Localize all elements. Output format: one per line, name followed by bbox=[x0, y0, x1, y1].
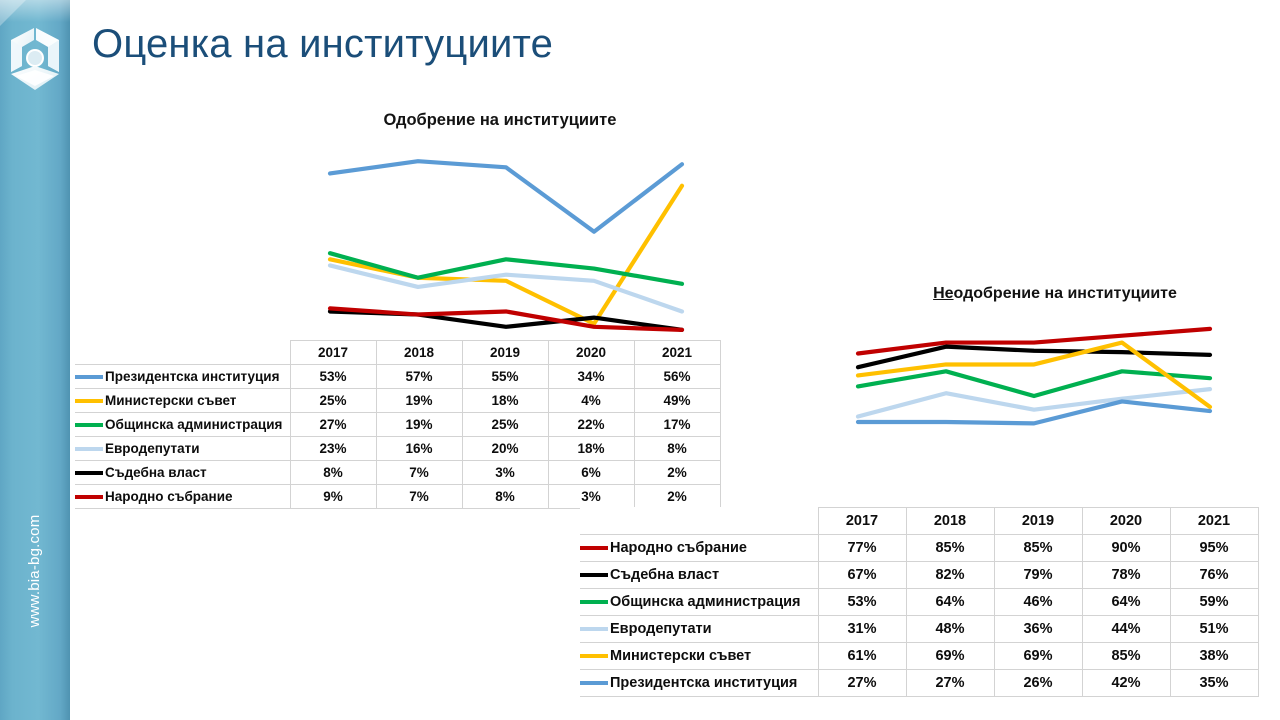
value-cell: 69% bbox=[994, 643, 1082, 670]
table-header-row: 2017 2018 2019 2020 2021 bbox=[75, 341, 720, 365]
legend-swatch-icon bbox=[75, 471, 103, 475]
series-name: Съдебна власт bbox=[105, 461, 207, 484]
legend-swatch-icon bbox=[75, 399, 103, 403]
legend-swatch-icon bbox=[580, 681, 608, 685]
value-cell: 69% bbox=[906, 643, 994, 670]
table-row: Евродепутати31%48%36%44%51% bbox=[580, 616, 1258, 643]
value-cell: 79% bbox=[994, 562, 1082, 589]
series-line-президентска-институция bbox=[858, 401, 1210, 423]
legend-swatch-icon bbox=[75, 375, 103, 379]
value-cell: 27% bbox=[906, 670, 994, 697]
table-row: Министерски съвет61%69%69%85%38% bbox=[580, 643, 1258, 670]
series-name: Министерски съвет bbox=[105, 389, 236, 412]
value-cell: 20% bbox=[462, 437, 548, 461]
column-header-2021: 2021 bbox=[1170, 508, 1258, 535]
value-cell: 90% bbox=[1082, 535, 1170, 562]
series-line-президентска-институция bbox=[330, 161, 682, 232]
table-row: Народно събрание9%7%8%3%2% bbox=[75, 485, 720, 509]
value-cell: 18% bbox=[548, 437, 634, 461]
series-label-cell: Общинска администрация bbox=[75, 413, 290, 437]
value-cell: 76% bbox=[1170, 562, 1258, 589]
table-row: Народно събрание77%85%85%90%95% bbox=[580, 535, 1258, 562]
approval-data-table: 2017 2018 2019 2020 2021 Президентска ин… bbox=[75, 340, 721, 509]
brand-sidebar: www.bia-bg.com bbox=[0, 0, 70, 720]
value-cell: 57% bbox=[376, 365, 462, 389]
series-name: Евродепутати bbox=[105, 437, 200, 460]
value-cell: 4% bbox=[548, 389, 634, 413]
value-cell: 9% bbox=[290, 485, 376, 509]
site-url-label: www.bia-bg.com bbox=[26, 496, 48, 646]
value-cell: 2% bbox=[634, 485, 720, 509]
table-row: Министерски съвет25%19%18%4%49% bbox=[75, 389, 720, 413]
column-header-2019: 2019 bbox=[994, 508, 1082, 535]
value-cell: 19% bbox=[376, 413, 462, 437]
value-cell: 7% bbox=[376, 461, 462, 485]
value-cell: 27% bbox=[818, 670, 906, 697]
column-header-2017: 2017 bbox=[290, 341, 376, 365]
series-label-cell: Съдебна власт bbox=[75, 461, 290, 485]
table-row: Общинска администрация53%64%46%64%59% bbox=[580, 589, 1258, 616]
series-label-cell: Евродепутати bbox=[75, 437, 290, 461]
series-label-cell: Народно събрание bbox=[580, 535, 818, 562]
series-name: Общинска администрация bbox=[610, 589, 801, 615]
value-cell: 53% bbox=[818, 589, 906, 616]
disapproval-chart-title: Неодобрение на институциите bbox=[875, 285, 1235, 303]
value-cell: 7% bbox=[376, 485, 462, 509]
legend-swatch-icon bbox=[580, 627, 608, 631]
value-cell: 22% bbox=[548, 413, 634, 437]
value-cell: 25% bbox=[462, 413, 548, 437]
legend-swatch-icon bbox=[580, 546, 608, 550]
value-cell: 64% bbox=[1082, 589, 1170, 616]
series-label-cell: Министерски съвет bbox=[75, 389, 290, 413]
series-label-cell: Евродепутати bbox=[580, 616, 818, 643]
series-name: Народно събрание bbox=[105, 485, 233, 508]
disapproval-data-table: 2017 2018 2019 2020 2021 Народно събрани… bbox=[580, 507, 1259, 697]
legend-swatch-icon bbox=[75, 423, 103, 427]
value-cell: 25% bbox=[290, 389, 376, 413]
series-line-евродепутати bbox=[858, 389, 1210, 416]
table-corner-cell bbox=[580, 508, 818, 535]
page-title: Оценка на институциите bbox=[92, 22, 553, 67]
legend-swatch-icon bbox=[75, 447, 103, 451]
series-name: Министерски съвет bbox=[610, 643, 751, 669]
value-cell: 26% bbox=[994, 670, 1082, 697]
value-cell: 34% bbox=[548, 365, 634, 389]
value-cell: 82% bbox=[906, 562, 994, 589]
value-cell: 85% bbox=[906, 535, 994, 562]
value-cell: 51% bbox=[1170, 616, 1258, 643]
series-label-cell: Народно събрание bbox=[75, 485, 290, 509]
column-header-2018: 2018 bbox=[906, 508, 994, 535]
value-cell: 31% bbox=[818, 616, 906, 643]
value-cell: 36% bbox=[994, 616, 1082, 643]
value-cell: 49% bbox=[634, 389, 720, 413]
value-cell: 17% bbox=[634, 413, 720, 437]
value-cell: 35% bbox=[1170, 670, 1258, 697]
value-cell: 27% bbox=[290, 413, 376, 437]
value-cell: 19% bbox=[376, 389, 462, 413]
series-label-cell: Общинска администрация bbox=[580, 589, 818, 616]
legend-swatch-icon bbox=[580, 573, 608, 577]
value-cell: 53% bbox=[290, 365, 376, 389]
value-cell: 44% bbox=[1082, 616, 1170, 643]
series-name: Президентска институция bbox=[105, 365, 279, 388]
bia-logo-icon bbox=[6, 20, 64, 96]
value-cell: 3% bbox=[548, 485, 634, 509]
value-cell: 85% bbox=[1082, 643, 1170, 670]
disapproval-line-chart bbox=[858, 318, 1210, 463]
column-header-2020: 2020 bbox=[1082, 508, 1170, 535]
value-cell: 8% bbox=[634, 437, 720, 461]
series-name: Президентска институция bbox=[610, 670, 797, 696]
value-cell: 67% bbox=[818, 562, 906, 589]
table-row: Президентска институция53%57%55%34%56% bbox=[75, 365, 720, 389]
value-cell: 95% bbox=[1170, 535, 1258, 562]
column-header-2020: 2020 bbox=[548, 341, 634, 365]
disapproval-title-underlined-prefix: Не bbox=[933, 285, 953, 302]
approval-line-chart bbox=[330, 148, 682, 340]
column-header-2019: 2019 bbox=[462, 341, 548, 365]
legend-swatch-icon bbox=[580, 600, 608, 604]
series-label-cell: Президентска институция bbox=[75, 365, 290, 389]
value-cell: 46% bbox=[994, 589, 1082, 616]
value-cell: 85% bbox=[994, 535, 1082, 562]
value-cell: 61% bbox=[818, 643, 906, 670]
value-cell: 78% bbox=[1082, 562, 1170, 589]
table-row: Съдебна власт67%82%79%78%76% bbox=[580, 562, 1258, 589]
series-label-cell: Президентска институция bbox=[580, 670, 818, 697]
value-cell: 59% bbox=[1170, 589, 1258, 616]
value-cell: 16% bbox=[376, 437, 462, 461]
value-cell: 6% bbox=[548, 461, 634, 485]
value-cell: 42% bbox=[1082, 670, 1170, 697]
series-name: Народно събрание bbox=[610, 535, 747, 561]
series-line-общинска-администрация bbox=[858, 371, 1210, 396]
value-cell: 8% bbox=[462, 485, 548, 509]
column-header-2017: 2017 bbox=[818, 508, 906, 535]
value-cell: 48% bbox=[906, 616, 994, 643]
series-name: Съдебна власт bbox=[610, 562, 719, 588]
series-label-cell: Съдебна власт bbox=[580, 562, 818, 589]
value-cell: 56% bbox=[634, 365, 720, 389]
value-cell: 3% bbox=[462, 461, 548, 485]
table-row: Общинска администрация27%19%25%22%17% bbox=[75, 413, 720, 437]
legend-swatch-icon bbox=[580, 654, 608, 658]
table-corner-cell bbox=[75, 341, 290, 365]
value-cell: 55% bbox=[462, 365, 548, 389]
disapproval-title-rest: одобрение на институциите bbox=[954, 285, 1177, 302]
value-cell: 77% bbox=[818, 535, 906, 562]
value-cell: 38% bbox=[1170, 643, 1258, 670]
legend-swatch-icon bbox=[75, 495, 103, 499]
table-row: Съдебна власт8%7%3%6%2% bbox=[75, 461, 720, 485]
value-cell: 2% bbox=[634, 461, 720, 485]
value-cell: 8% bbox=[290, 461, 376, 485]
value-cell: 64% bbox=[906, 589, 994, 616]
value-cell: 23% bbox=[290, 437, 376, 461]
table-header-row: 2017 2018 2019 2020 2021 bbox=[580, 508, 1258, 535]
series-label-cell: Министерски съвет bbox=[580, 643, 818, 670]
series-name: Евродепутати bbox=[610, 616, 712, 642]
table-row: Евродепутати23%16%20%18%8% bbox=[75, 437, 720, 461]
approval-chart-title: Одобрение на институциите bbox=[300, 111, 700, 130]
series-name: Общинска администрация bbox=[105, 413, 282, 436]
table-row: Президентска институция27%27%26%42%35% bbox=[580, 670, 1258, 697]
column-header-2018: 2018 bbox=[376, 341, 462, 365]
column-header-2021: 2021 bbox=[634, 341, 720, 365]
value-cell: 18% bbox=[462, 389, 548, 413]
